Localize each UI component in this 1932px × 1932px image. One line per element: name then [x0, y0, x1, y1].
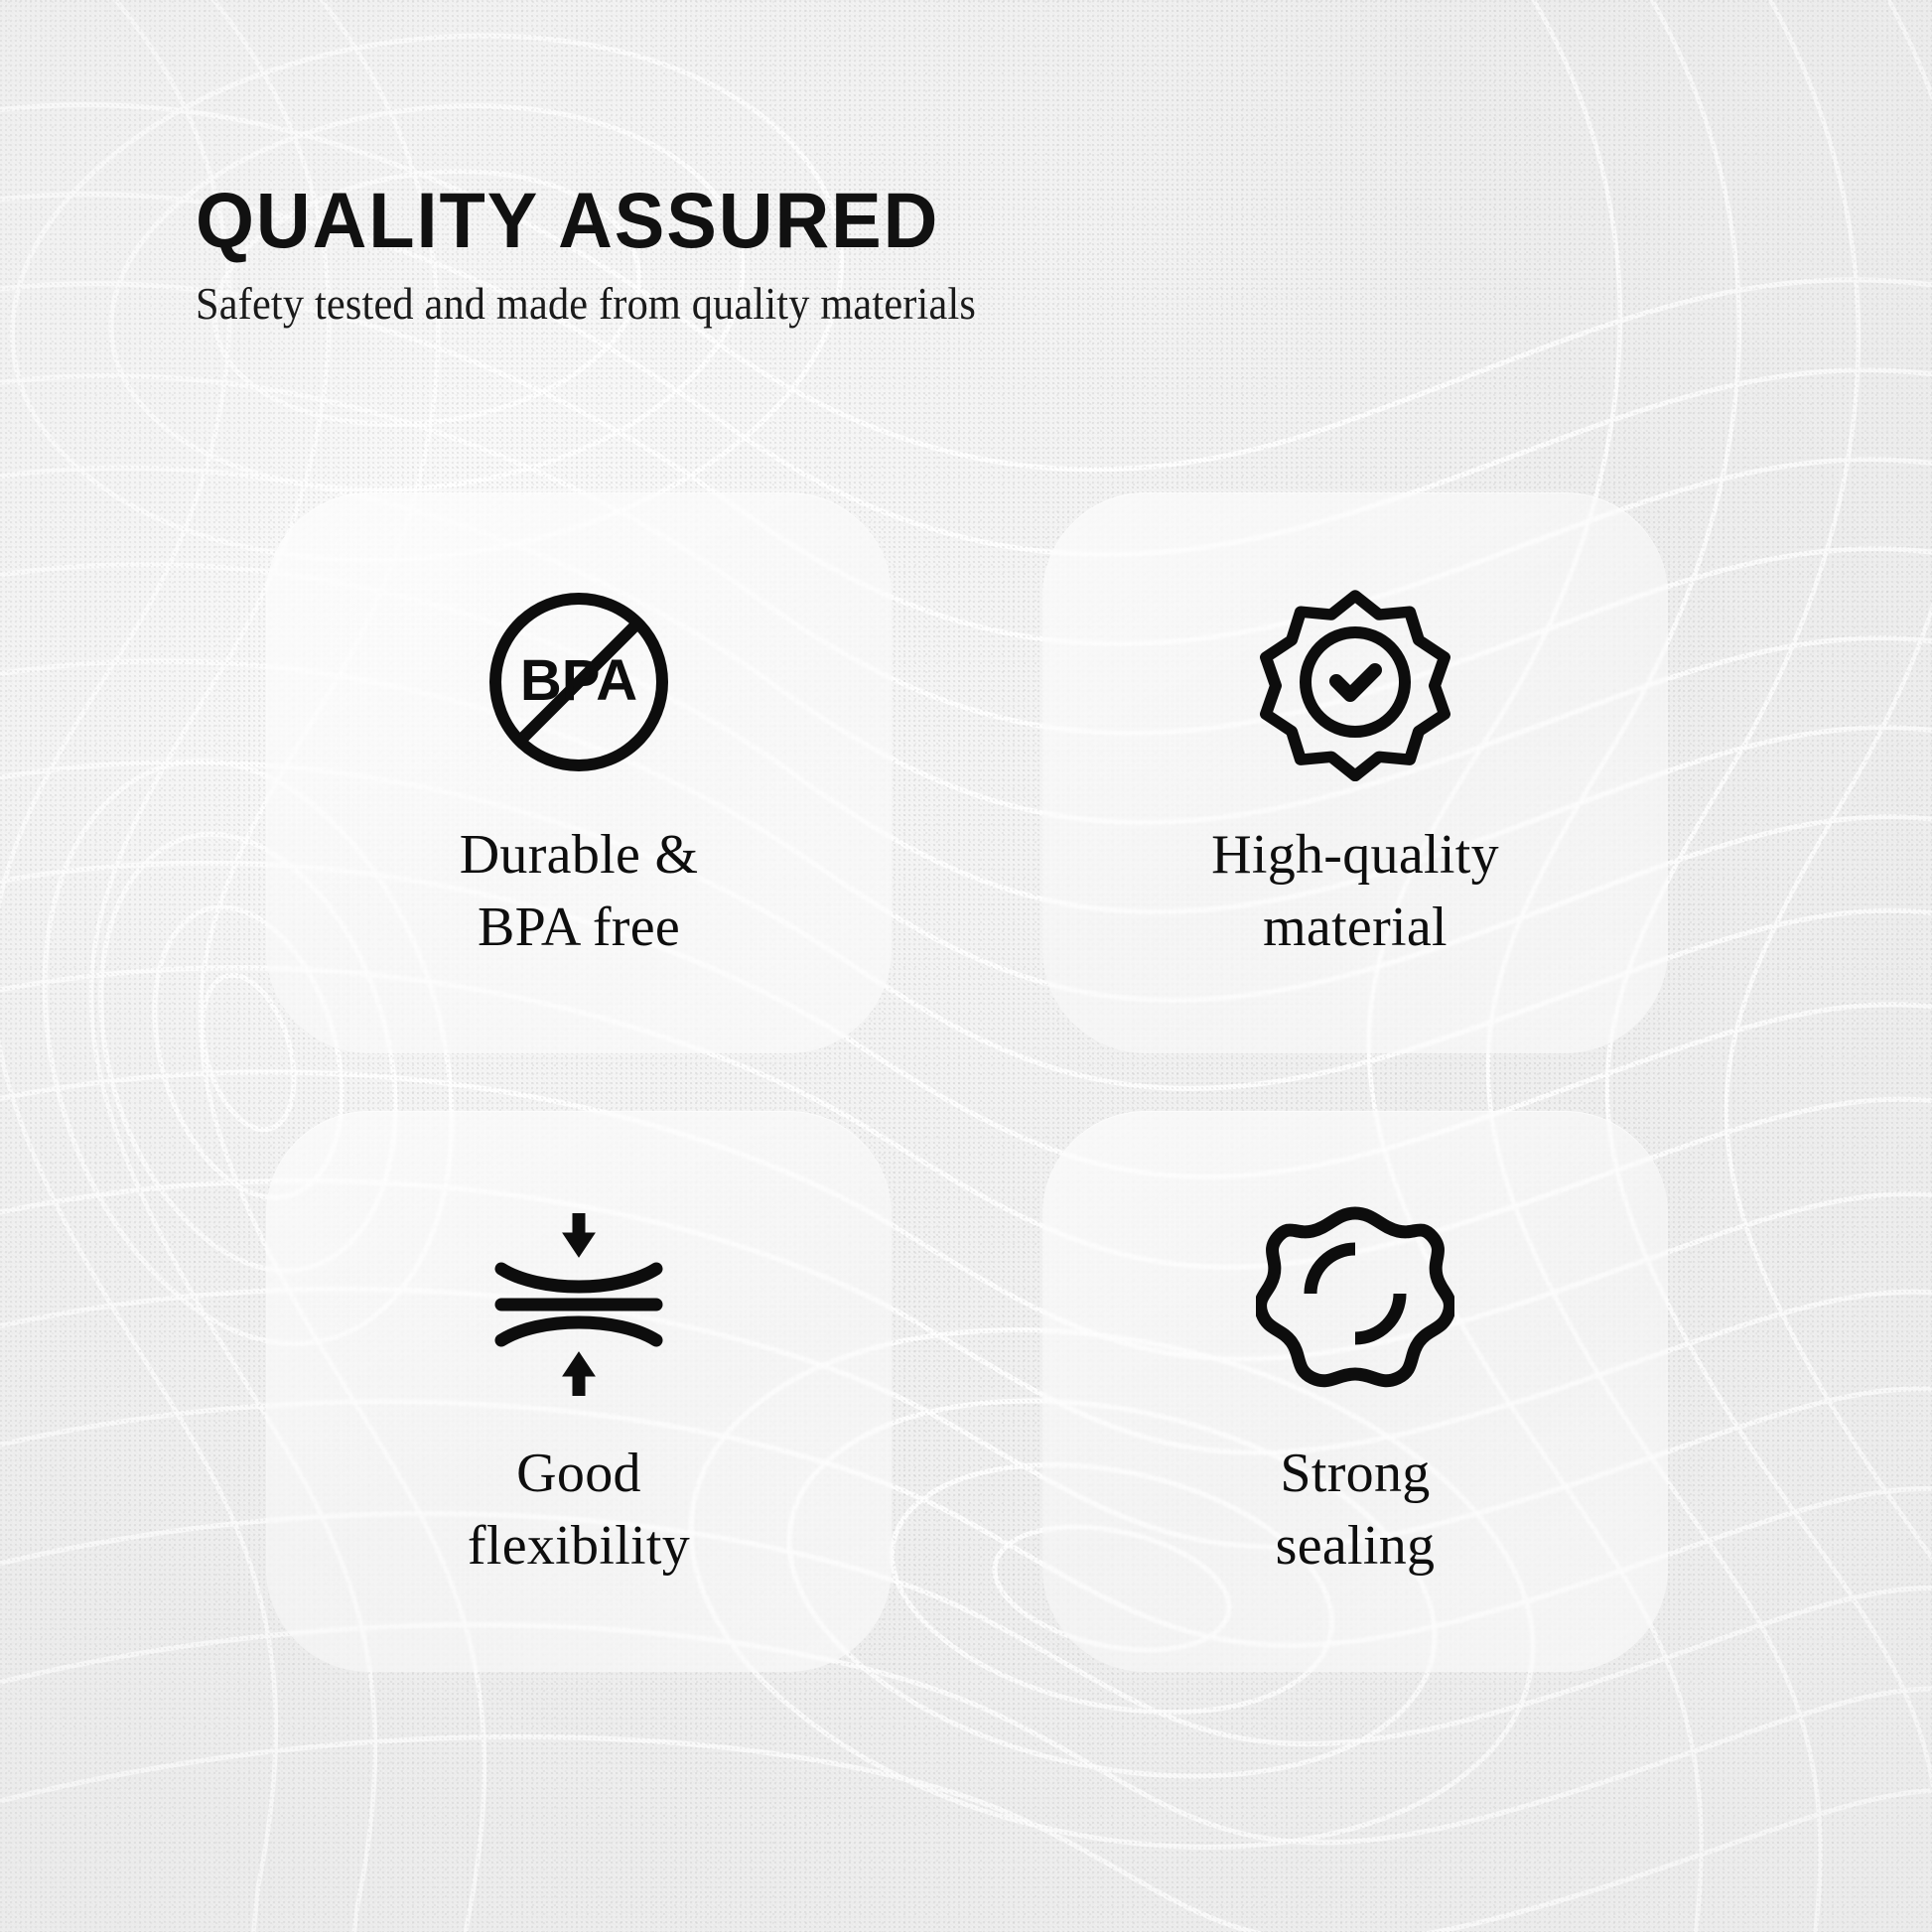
seal-rosette-icon	[1256, 1201, 1454, 1400]
feature-card-label: High-quality material	[1211, 819, 1499, 964]
bpa-free-icon: BPA	[480, 583, 678, 781]
bpa-icon-text: BPA	[520, 648, 637, 713]
header: QUALITY ASSURED Safety tested and made f…	[196, 181, 1387, 331]
feature-card-good-flexibility[interactable]: Good flexibility	[266, 1111, 892, 1672]
feature-card-high-quality-material[interactable]: High-quality material	[1042, 492, 1668, 1053]
quality-badge-check-icon	[1256, 583, 1454, 781]
flexibility-compression-icon	[480, 1201, 678, 1400]
page-subtitle: Safety tested and made from quality mate…	[196, 259, 1315, 331]
page-title: QUALITY ASSURED	[196, 181, 1339, 259]
feature-card-strong-sealing[interactable]: Strong sealing	[1042, 1111, 1668, 1672]
feature-card-label: Strong sealing	[1276, 1438, 1436, 1583]
feature-card-durable-bpa-free[interactable]: BPA Durable & BPA free	[266, 492, 892, 1053]
feature-card-label: Durable & BPA free	[460, 819, 699, 964]
feature-card-grid: BPA Durable & BPA free High-quality mate…	[266, 492, 1668, 1672]
infographic-canvas: QUALITY ASSURED Safety tested and made f…	[0, 0, 1932, 1932]
feature-card-label: Good flexibility	[468, 1438, 690, 1583]
